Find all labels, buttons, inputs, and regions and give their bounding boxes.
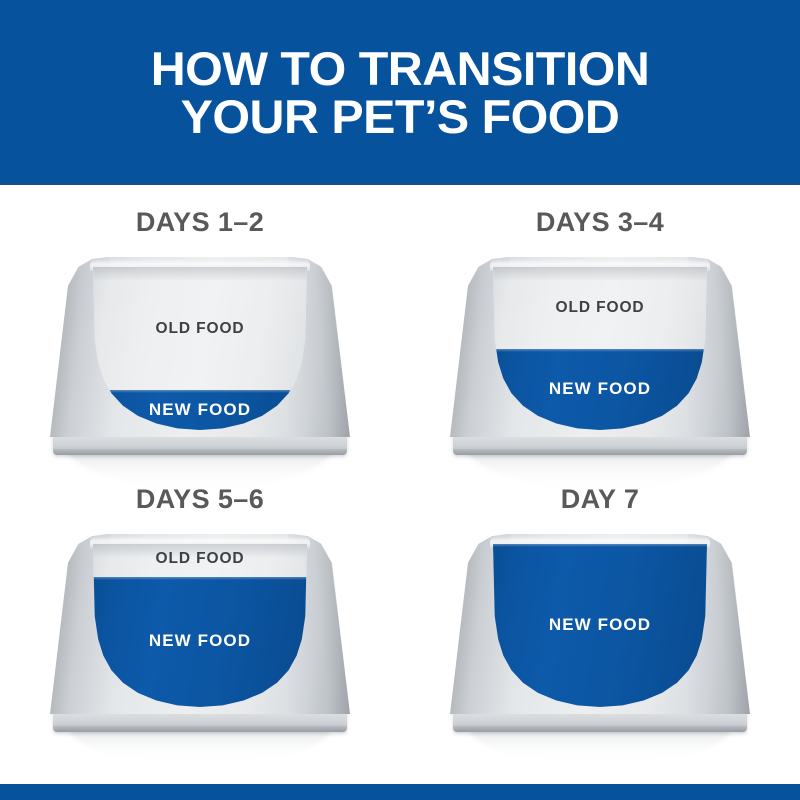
footer-bar [0, 784, 800, 800]
header-banner: HOW TO TRANSITION YOUR PET’S FOOD [0, 0, 800, 185]
new-food-surface [93, 577, 307, 580]
food-bowl-days-3-4: OLD FOOD NEW FOOD [450, 257, 750, 457]
step-day-label: DAYS 3–4 [400, 207, 800, 238]
step-day-label: DAYS 5–6 [0, 484, 400, 515]
food-bowl-days-5-6: OLD FOOD NEW FOOD [50, 534, 350, 734]
new-food-surface [493, 349, 707, 352]
steps-grid: DAYS 1–2 OLD FOOD NEW FOOD [0, 185, 800, 784]
step-panel-days-3-4: DAYS 3–4 OLD FOOD NEW FOOD [400, 185, 800, 485]
cavity-inner-shadow [93, 267, 307, 281]
new-food-surface [93, 390, 307, 393]
page-title-line-2: YOUR PET’S FOOD [181, 93, 620, 141]
new-food-surface [493, 544, 707, 547]
cavity-inner-shadow [93, 544, 307, 558]
step-panel-days-5-6: DAYS 5–6 OLD FOOD NEW FOOD [0, 462, 400, 762]
food-bowl-day-7: NEW FOOD [450, 534, 750, 734]
food-bowl-days-1-2: OLD FOOD NEW FOOD [50, 257, 350, 457]
infographic-canvas: HOW TO TRANSITION YOUR PET’S FOOD DAYS 1… [0, 0, 800, 800]
step-day-label: DAYS 1–2 [0, 207, 400, 238]
cavity-inner-shadow [493, 267, 707, 281]
step-day-label: DAY 7 [400, 484, 800, 515]
step-panel-day-7: DAY 7 NEW FOOD [400, 462, 800, 762]
page-title-line-1: HOW TO TRANSITION [151, 45, 650, 93]
footer-fade [0, 742, 800, 784]
step-panel-days-1-2: DAYS 1–2 OLD FOOD NEW FOOD [0, 185, 400, 485]
new-food-fill [493, 544, 707, 708]
bowl-cavity: OLD FOOD NEW FOOD [93, 267, 307, 431]
bowl-cavity: NEW FOOD [493, 544, 707, 708]
bowl-cavity: OLD FOOD NEW FOOD [93, 544, 307, 708]
bowl-cavity: OLD FOOD NEW FOOD [493, 267, 707, 431]
